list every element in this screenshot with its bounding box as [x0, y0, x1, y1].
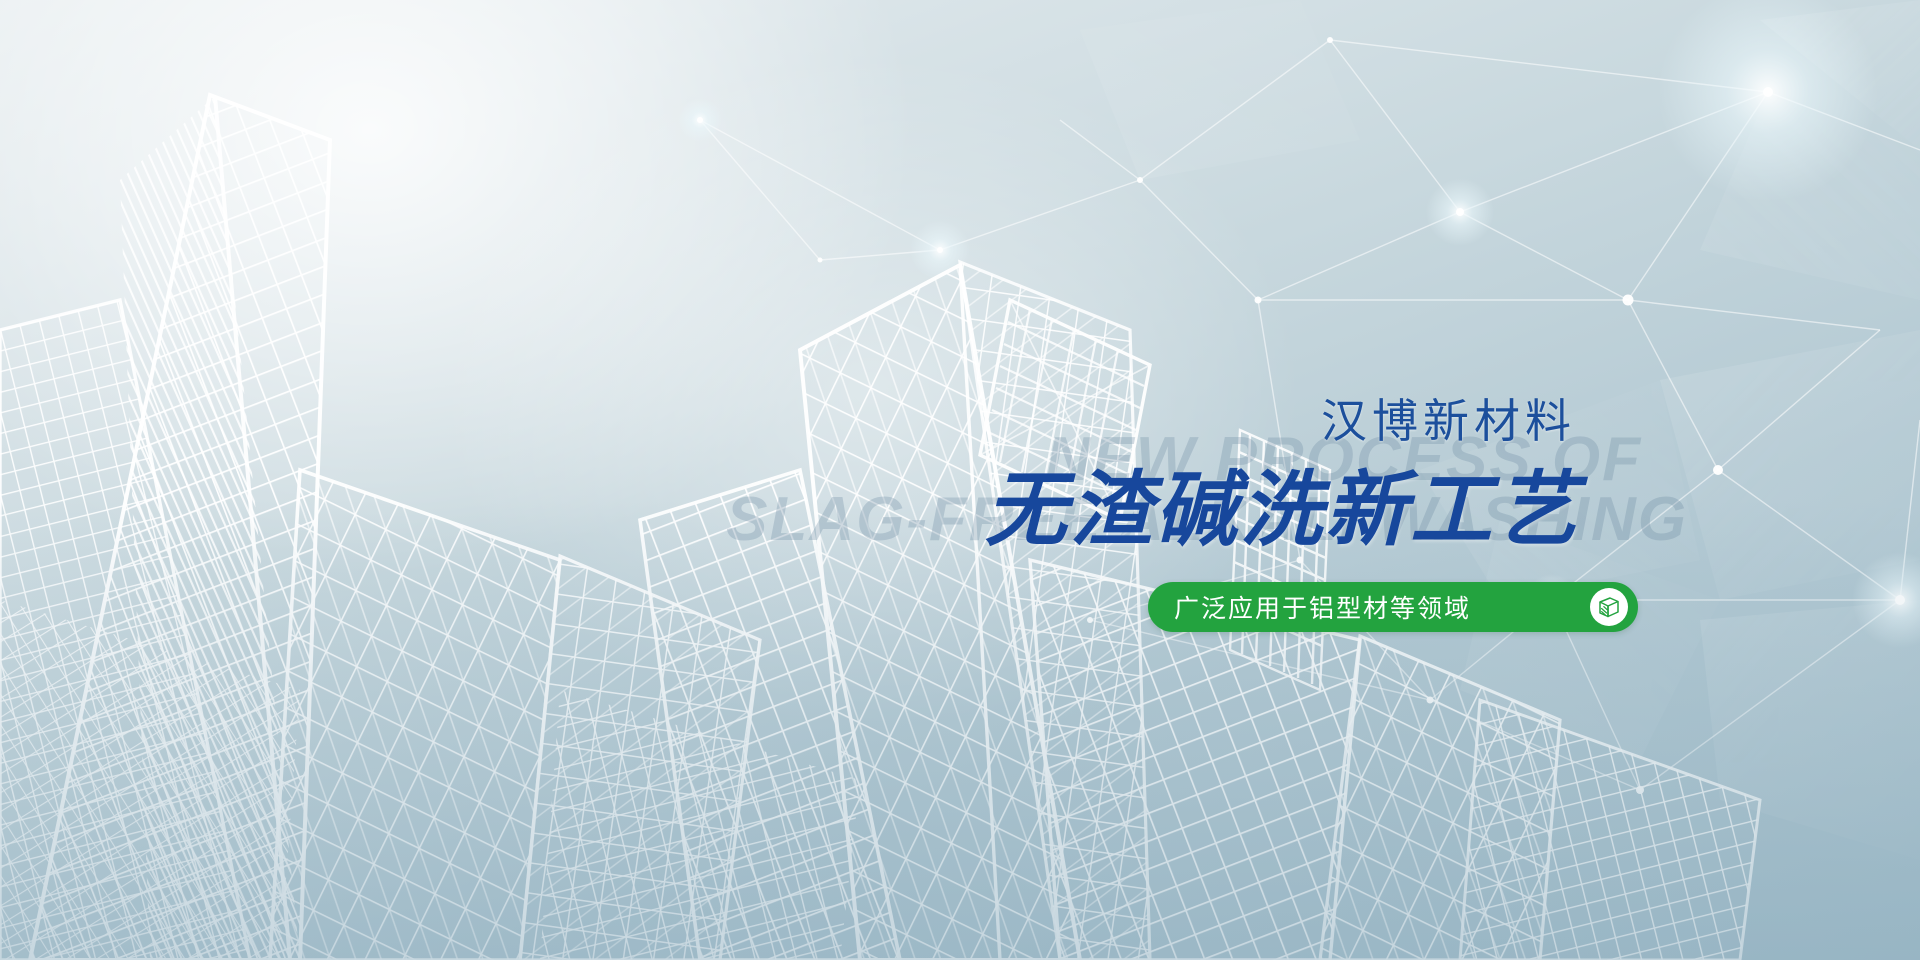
bottom-vignette	[0, 500, 1920, 960]
cube-box-icon	[1590, 588, 1628, 626]
center-glow	[420, 40, 1320, 740]
network-constellation-graphic	[0, 0, 1920, 960]
application-badge-label: 广泛应用于铝型材等领域	[1174, 589, 1471, 625]
top-left-glow	[0, 0, 920, 580]
application-badge[interactable]: 广泛应用于铝型材等领域	[1148, 582, 1638, 632]
ghost-subtitle-line-2: SLAG-FREE ALKALI WASHING	[726, 484, 1688, 555]
hero-text-block: NEW PROCESS OF SLAG-FREE ALKALI WASHING …	[0, 0, 1920, 960]
ghost-subtitle-line-1: NEW PROCESS OF	[1046, 424, 1642, 495]
page-title: 无渣碱洗新工艺	[985, 470, 1580, 552]
hero-banner: NEW PROCESS OF SLAG-FREE ALKALI WASHING …	[0, 0, 1920, 960]
wireframe-buildings-graphic	[0, 0, 1920, 960]
brand-name: 汉博新材料	[1321, 398, 1576, 444]
